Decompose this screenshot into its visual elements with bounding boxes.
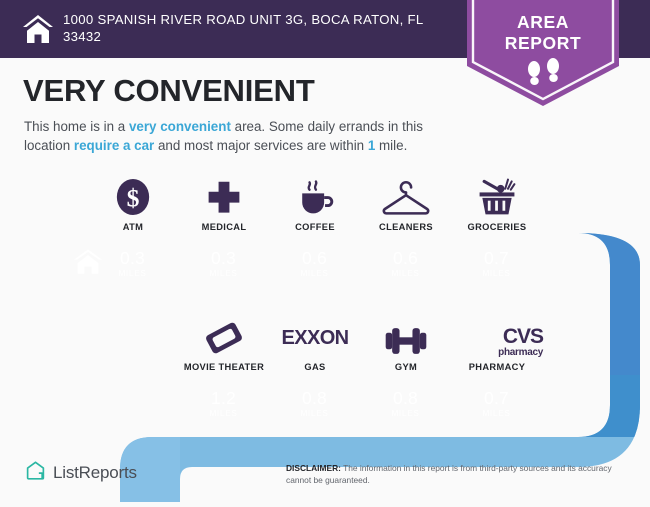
listreports-logo[interactable]: ListReports (25, 460, 137, 486)
property-address: 1000 SPANISH RIVER ROAD UNIT 3G, BOCA RA… (63, 11, 453, 45)
badge-line-2: REPORT (467, 33, 619, 54)
exxon-logo-icon: EXXON (269, 314, 361, 358)
category-cleaners: CLEANERS (360, 174, 452, 232)
distance-atm: 0.3 MILES (87, 248, 178, 278)
exxon-brand-text: EXXON (281, 318, 348, 358)
grocery-basket-icon (451, 174, 543, 218)
distance-pharmacy: 0.7 MILES (451, 388, 542, 418)
category-coffee: COFFEE (269, 174, 361, 232)
distance-value: 0.8 (360, 388, 451, 408)
dollar-circle-icon: $ (87, 174, 179, 218)
clothes-hanger-icon (360, 174, 452, 218)
movie-ticket-icon (178, 314, 270, 358)
distance-gas: 0.8 MILES (269, 388, 360, 418)
category-label: GROCERIES (451, 222, 543, 232)
category-label: PHARMACY (451, 362, 543, 372)
distance-value: 1.2 (178, 388, 269, 408)
area-report-badge: AREA REPORT (467, 0, 619, 106)
distance-value: 0.7 (451, 248, 542, 268)
house-icon (22, 14, 54, 44)
category-groceries: GROCERIES (451, 174, 543, 232)
category-label: MEDICAL (178, 222, 270, 232)
badge-label: AREA REPORT (467, 12, 619, 54)
category-label: GYM (360, 362, 452, 372)
distance-unit: MILES (451, 409, 542, 418)
distance-medical: 0.3 MILES (178, 248, 269, 278)
category-label: CLEANERS (360, 222, 452, 232)
category-atm: $ ATM (87, 174, 179, 232)
distance-movie-theater: 1.2 MILES (178, 388, 269, 418)
distance-unit: MILES (269, 269, 360, 278)
distance-unit: MILES (178, 409, 269, 418)
medical-cross-icon (178, 174, 270, 218)
listreports-wordmark: ListReports (53, 463, 137, 483)
distance-unit: MILES (178, 269, 269, 278)
distance-coffee: 0.6 MILES (269, 248, 360, 278)
disclaimer: DISCLAIMER: The information in this repo… (286, 463, 636, 486)
distance-unit: MILES (87, 269, 178, 278)
cvs-brand-sub: pharmacy (498, 347, 543, 358)
category-pharmacy: CVS pharmacy PHARMACY (451, 314, 543, 372)
distance-groceries: 0.7 MILES (451, 248, 542, 278)
distance-value: 0.6 (269, 248, 360, 268)
category-label: COFFEE (269, 222, 361, 232)
page-title: VERY CONVENIENT (23, 73, 315, 109)
distance-gym: 0.8 MILES (360, 388, 451, 418)
category-label: GAS (269, 362, 361, 372)
category-label: ATM (87, 222, 179, 232)
category-medical: MEDICAL (178, 174, 270, 232)
category-gym: GYM (360, 314, 452, 372)
listreports-house-icon (25, 460, 46, 486)
distance-value: 0.3 (178, 248, 269, 268)
cvs-logo-icon: CVS pharmacy (451, 314, 543, 358)
page-subtitle: This home is in a very convenient area. … (24, 118, 464, 155)
dumbbell-icon (360, 314, 452, 358)
footprints-icon (523, 58, 565, 88)
category-label: MOVIE THEATER (178, 362, 270, 372)
category-movie-theater: MOVIE THEATER (178, 314, 270, 372)
distance-unit: MILES (451, 269, 542, 278)
distance-value: 0.7 (451, 388, 542, 408)
distance-value: 0.3 (87, 248, 178, 268)
svg-text:$: $ (127, 184, 140, 213)
category-gas: EXXON GAS (269, 314, 361, 372)
subtitle-part-1: This home is in a (24, 119, 129, 134)
subtitle-highlight-2: require a car (74, 138, 154, 153)
badge-line-1: AREA (467, 12, 619, 33)
distance-value: 0.6 (360, 248, 451, 268)
subtitle-part-4: mile. (375, 138, 407, 153)
subtitle-part-3: and most major services are within (154, 138, 368, 153)
cvs-brand-name: CVS (503, 327, 543, 347)
distance-unit: MILES (269, 409, 360, 418)
distance-unit: MILES (360, 269, 451, 278)
distance-cleaners: 0.6 MILES (360, 248, 451, 278)
row1-icon-strip: $ ATM MEDICAL COFFEE (0, 174, 650, 234)
row2-icon-strip: MOVIE THEATER EXXON GAS GYM CVS pharmacy… (0, 314, 650, 374)
distance-unit: MILES (360, 409, 451, 418)
disclaimer-label: DISCLAIMER: (286, 463, 341, 473)
distance-value: 0.8 (269, 388, 360, 408)
subtitle-highlight-1: very convenient (129, 119, 231, 134)
coffee-cup-icon (269, 174, 361, 218)
